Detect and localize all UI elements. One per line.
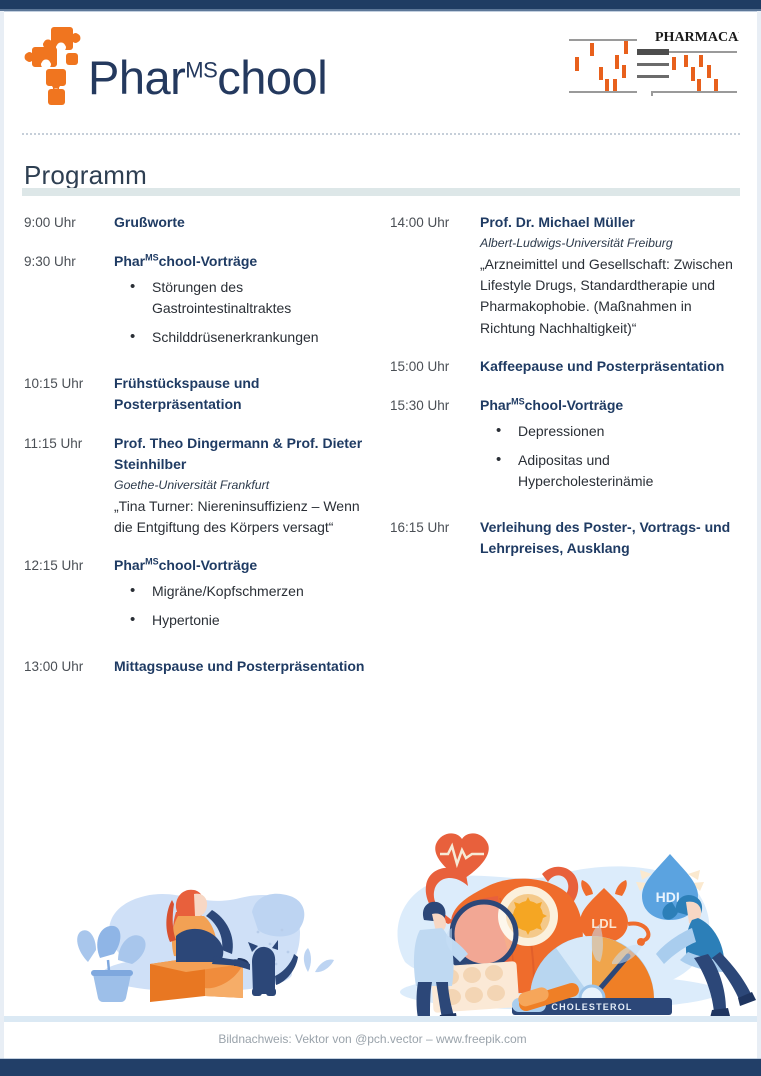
bottom-navy-bar	[0, 1059, 761, 1076]
entry-bullet-item: Störungen des Gastrointestinaltraktes	[114, 277, 369, 319]
entry-time: 16:15 Uhr	[390, 517, 480, 560]
illustration-band: LDL HDL	[0, 812, 761, 1022]
logo-superscript: MS	[185, 57, 217, 82]
program-entry: 12:15 UhrPharMSchool-VorträgeMigräne/Kop…	[24, 555, 369, 639]
entry-time: 11:15 Uhr	[24, 433, 114, 539]
entry-time: 9:00 Uhr	[24, 212, 114, 234]
entry-bullet-item: Depressionen	[480, 421, 740, 442]
entry-title-main: Phar	[114, 557, 145, 573]
entry-body: Verleihung des Poster-, Vortrags- und Le…	[480, 517, 740, 560]
entry-time: 10:15 Uhr	[24, 373, 114, 416]
entry-title: Kaffeepause und Posterpräsentation	[480, 356, 740, 377]
entry-title: Frühstückspause und Posterpräsentation	[114, 373, 369, 416]
illustration-left-depression	[77, 890, 334, 1002]
program-entry: 9:30 UhrPharMSchool-VorträgeStörungen de…	[24, 251, 369, 356]
leaf-sprig	[304, 948, 334, 972]
entry-affiliation: Goethe-Universität Frankfurt	[114, 476, 369, 494]
entry-description: „Tina Turner: Niereninsuffizienz – Wenn …	[114, 496, 369, 539]
entry-title-main: Phar	[114, 253, 145, 269]
poster-page: PharMSchool	[0, 0, 761, 1076]
program-column-left: 9:00 UhrGrußworte9:30 UhrPharMSchool-Vor…	[24, 212, 369, 695]
entry-title-tail: chool-Vorträge	[525, 397, 624, 413]
entry-bullet-list: Migräne/KopfschmerzenHypertonie	[114, 581, 369, 631]
entry-body: Grußworte	[114, 212, 369, 234]
entry-bullet-item: Schilddrüsenerkrankungen	[114, 327, 369, 348]
title-underline	[22, 188, 740, 196]
program-column-right: 14:00 UhrProf. Dr. Michael MüllerAlbert-…	[390, 212, 740, 576]
entry-body: Prof. Theo Dingermann & Prof. Dieter Ste…	[114, 433, 369, 539]
entry-bullet-item: Hypertonie	[114, 610, 369, 631]
entry-title: Grußworte	[114, 212, 369, 233]
page-title: Programm	[24, 160, 147, 191]
entry-title-superscript: MS	[511, 396, 525, 406]
program-entry: 10:15 UhrFrühstückspause und Posterpräse…	[24, 373, 369, 416]
entry-title: Prof. Theo Dingermann & Prof. Dieter Ste…	[114, 433, 369, 476]
entry-title: PharMSchool-Vorträge	[114, 251, 369, 272]
entry-bullet-item: Adipositas und Hypercholesterinämie	[480, 450, 740, 492]
entry-title-tail: chool-Vorträge	[159, 557, 258, 573]
pharmschool-logo: PharMSchool	[24, 25, 329, 107]
entry-title-superscript: MS	[145, 557, 159, 567]
entry-body: Prof. Dr. Michael MüllerAlbert-Ludwigs-U…	[480, 212, 740, 339]
entry-title: Prof. Dr. Michael Müller	[480, 212, 740, 233]
entry-body: Frühstückspause und Posterpräsentation	[114, 373, 369, 416]
program-entry: 15:00 UhrKaffeepause und Posterpräsentat…	[390, 356, 740, 378]
entry-title: Mittagspause und Posterpräsentation	[114, 656, 369, 677]
entry-bullet-list: DepressionenAdipositas und Hypercholeste…	[480, 421, 740, 492]
logo-tail-text: chool	[217, 51, 327, 104]
entry-body: PharMSchool-VorträgeMigräne/Kopfschmerze…	[114, 555, 369, 639]
entry-body: Mittagspause und Posterpräsentation	[114, 656, 369, 678]
logo-wordmark: PharMSchool	[88, 54, 327, 101]
entry-time: 9:30 Uhr	[24, 251, 114, 356]
pharmacampus-logo: PHARMACAMPUS	[567, 29, 739, 101]
logo-main-text: Phar	[88, 51, 185, 104]
gauge-label: CHOLESTEROL	[551, 1002, 632, 1012]
illustration-right-cholesterol: LDL HDL	[398, 833, 756, 1022]
program-entry: 11:15 UhrProf. Theo Dingermann & Prof. D…	[24, 433, 369, 539]
image-credit: Bildnachweis: Vektor von @pch.vector – w…	[0, 1032, 761, 1046]
entry-bullet-item: Migräne/Kopfschmerzen	[114, 581, 369, 602]
entry-description: „Arzneimittel und Gesellschaft: Zwischen…	[480, 254, 740, 339]
entry-time: 13:00 Uhr	[24, 656, 114, 678]
ground-strip	[4, 1016, 757, 1022]
illustrations: LDL HDL	[0, 812, 761, 1022]
entry-bullet-list: Störungen des GastrointestinaltraktesSch…	[114, 277, 369, 348]
program-entry: 13:00 UhrMittagspause und Posterpräsenta…	[24, 656, 369, 678]
program-entry: 16:15 UhrVerleihung des Poster-, Vortrag…	[390, 517, 740, 560]
program-entry: 14:00 UhrProf. Dr. Michael MüllerAlbert-…	[390, 212, 740, 339]
entry-body: Kaffeepause und Posterpräsentation	[480, 356, 740, 378]
entry-title: PharMSchool-Vorträge	[480, 395, 740, 416]
entry-time: 14:00 Uhr	[390, 212, 480, 339]
program-entry: 9:00 UhrGrußworte	[24, 212, 369, 234]
entry-time: 12:15 Uhr	[24, 555, 114, 639]
header-divider	[22, 133, 740, 135]
pharmacampus-wordmark: PHARMACAMPUS	[655, 30, 739, 45]
page-header: PharMSchool	[0, 11, 761, 119]
entry-title: PharMSchool-Vorträge	[114, 555, 369, 576]
entry-affiliation: Albert-Ludwigs-Universität Freiburg	[480, 234, 740, 252]
puzzle-pieces-icon	[24, 25, 90, 107]
entry-title-tail: chool-Vorträge	[159, 253, 258, 269]
program-entry: 15:30 UhrPharMSchool-VorträgeDepressione…	[390, 395, 740, 500]
entry-body: PharMSchool-VorträgeStörungen des Gastro…	[114, 251, 369, 356]
entry-time: 15:00 Uhr	[390, 356, 480, 378]
entry-title: Verleihung des Poster-, Vortrags- und Le…	[480, 517, 740, 560]
entry-time: 15:30 Uhr	[390, 395, 480, 500]
entry-title-superscript: MS	[145, 252, 159, 262]
entry-body: PharMSchool-VorträgeDepressionenAdiposit…	[480, 395, 740, 500]
entry-title-main: Phar	[480, 397, 511, 413]
